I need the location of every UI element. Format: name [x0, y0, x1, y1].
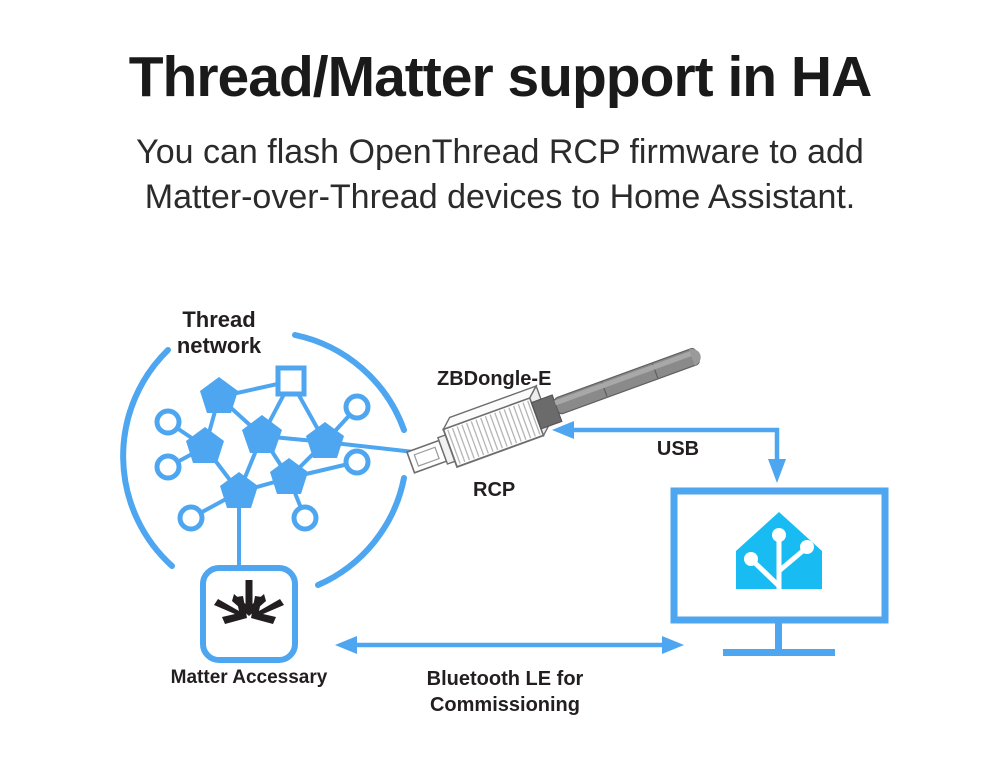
thread-network-label-line-2: network: [177, 333, 262, 358]
ble-label-line-2: Commissioning: [430, 694, 580, 716]
page-title: Thread/Matter support in HA: [0, 0, 1000, 108]
monitor-stand-neck: [775, 620, 782, 652]
thread-end-device-node: [157, 411, 179, 433]
antenna-rod: [554, 346, 704, 414]
thread-router-nodes: [186, 377, 344, 508]
thread-network-group: Thread network: [123, 307, 414, 585]
ble-arrowhead-right: [662, 636, 684, 654]
thread-square-node: [278, 368, 304, 394]
usb-arrowhead-down: [768, 459, 786, 483]
home-assistant-group[interactable]: [674, 491, 885, 656]
monitor-stand-base: [723, 649, 835, 656]
usb-link-group: USB: [552, 421, 786, 483]
boundary-arc-bottom-right: [318, 478, 404, 585]
zbdongle-e-group[interactable]: ZBDongle-E RCP: [401, 330, 708, 501]
thread-end-device-node: [294, 507, 316, 529]
diagram-canvas: Thread network Matter Accessary: [0, 250, 1000, 776]
ble-arrowhead-left: [335, 636, 357, 654]
subtitle-line-2: Matter-over-Thread devices to Home Assis…: [0, 175, 1000, 220]
usb-label: USB: [657, 438, 699, 460]
poster-root: Thread/Matter support in HA You can flas…: [0, 0, 1000, 776]
thread-end-device-node: [346, 396, 368, 418]
header: Thread/Matter support in HA You can flas…: [0, 0, 1000, 220]
zbdongle-e-label: ZBDongle-E: [437, 368, 551, 390]
matter-accessory-label: Matter Accessary: [171, 667, 328, 688]
thread-network-label-line-1: Thread: [182, 307, 255, 332]
thread-router-node: [186, 427, 224, 463]
rcp-label: RCP: [473, 479, 515, 501]
ble-label-line-1: Bluetooth LE for: [427, 668, 584, 690]
page-subtitle: You can flash OpenThread RCP firmware to…: [0, 108, 1000, 220]
matter-accessory-group[interactable]: Matter Accessary: [171, 568, 328, 688]
thread-end-device-node: [157, 456, 179, 478]
ble-link-group: Bluetooth LE for Commissioning: [335, 636, 684, 716]
subtitle-line-1: You can flash OpenThread RCP firmware to…: [0, 130, 1000, 175]
thread-router-node: [200, 377, 238, 413]
thread-end-device-node: [180, 507, 202, 529]
thread-end-device-node: [346, 451, 368, 473]
